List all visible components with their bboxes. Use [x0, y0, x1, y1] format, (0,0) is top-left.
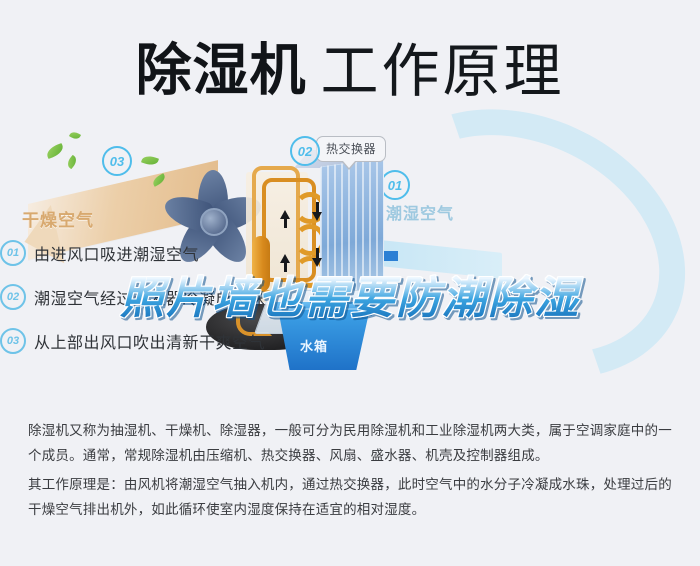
page-title: 除湿机工作原理 [0, 24, 700, 108]
title-light-part: 工作原理 [320, 39, 564, 104]
title-bold-part: 除湿机 [135, 39, 306, 102]
diagram-badge-03: 03 [102, 146, 132, 176]
flow-arrow-down-icon [312, 212, 322, 221]
heat-exchanger-callout: 热交换器 [316, 136, 386, 162]
step-label: 从上部出风口吹出清新干爽空气 [34, 329, 265, 353]
flow-arrow-stem [284, 218, 287, 228]
leaf-icon [45, 143, 65, 159]
description-paragraph-2: 其工作原理是：由风机将潮湿空气抽入机内，通过热交换器，此时空气中的水分子冷凝成水… [28, 472, 676, 522]
humid-air-label: 潮湿空气 [386, 200, 454, 224]
step-number-badge: 03 [0, 328, 26, 354]
fan-hub-icon [200, 208, 228, 236]
dry-air-label: 干燥空气 [22, 206, 94, 231]
leaf-icon [141, 154, 159, 168]
flow-arrow-stem [316, 202, 319, 212]
leaf-icon [65, 155, 79, 169]
poster-page: 除湿机工作原理 潮湿空气 01 干燥空气 03 [0, 0, 700, 566]
water-tank-label: 水箱 [300, 336, 328, 355]
flow-arrow-up-icon [280, 210, 290, 219]
flow-arrow-stem [316, 248, 319, 258]
description-paragraph-1: 除湿机又称为抽湿机、干燥机、除湿器，一般可分为民用除湿机和工业除湿机两大类，属于… [28, 418, 676, 468]
list-item: 03 从上部出风口吹出清新干爽空气 [0, 328, 300, 354]
leaf-icon [69, 130, 81, 141]
diagram-badge-02: 02 [290, 136, 320, 166]
watermark-text: 照片墙也需要防潮除湿 [0, 262, 700, 326]
